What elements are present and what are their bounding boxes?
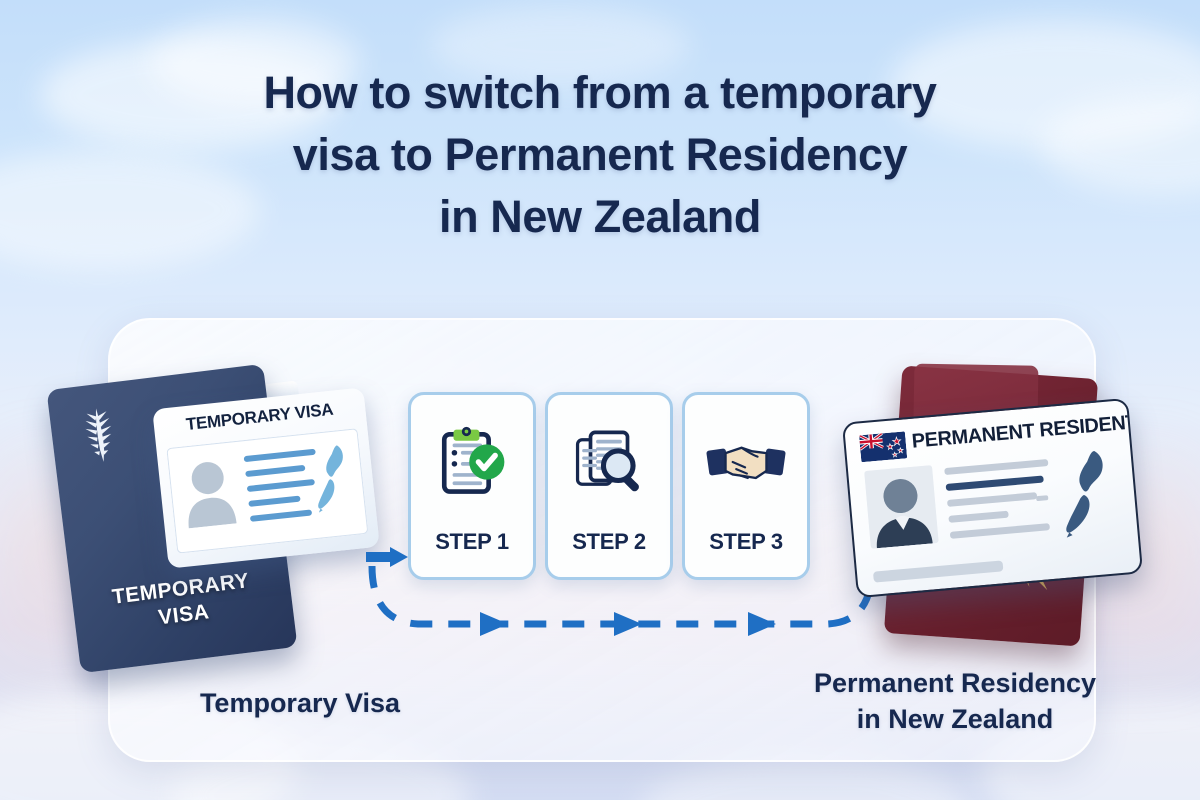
right-caption-line-1: Permanent Residency [814,668,1096,698]
step-card-2[interactable]: STEP 2 [545,392,673,580]
title-line-3: in New Zealand [0,186,1200,248]
title-line-2: visa to Permanent Residency [0,124,1200,186]
handshake-icon [685,417,807,507]
silver-fern-icon [79,404,120,466]
card-detail-dash [1036,495,1048,501]
avatar [864,465,939,549]
documents-magnifier-icon [548,417,670,507]
step-label: STEP 3 [685,529,807,555]
permanent-resident-card: PERMANENT RESIDENT [842,398,1143,598]
passport-label: TEMPORARY VISA [71,563,294,641]
title-line-1: How to switch from a temporary [0,62,1200,124]
step-card-3[interactable]: STEP 3 [682,392,810,580]
passport-label-line-2: VISA [157,600,210,629]
page-title: How to switch from a temporary visa to P… [0,62,1200,248]
temporary-visa-card-body [166,428,368,553]
left-caption: Temporary Visa [150,688,450,719]
card-detail-lines [944,459,1061,548]
temporary-visa-card: TEMPORARY VISA [152,387,380,568]
card-bottom-bar [873,560,1003,582]
new-zealand-flag-icon [859,431,907,462]
right-caption: Permanent Residency in New Zealand [790,665,1120,737]
right-caption-line-2: in New Zealand [857,704,1054,734]
clipboard-check-icon [411,417,533,507]
step-card-1[interactable]: STEP 1 [408,392,536,580]
new-zealand-map-icon [307,441,360,513]
avatar [177,451,240,528]
step-label: STEP 2 [548,529,670,555]
infographic-canvas: How to switch from a temporary visa to P… [0,0,1200,800]
step-label: STEP 1 [411,529,533,555]
new-zealand-map-icon [1054,445,1123,538]
